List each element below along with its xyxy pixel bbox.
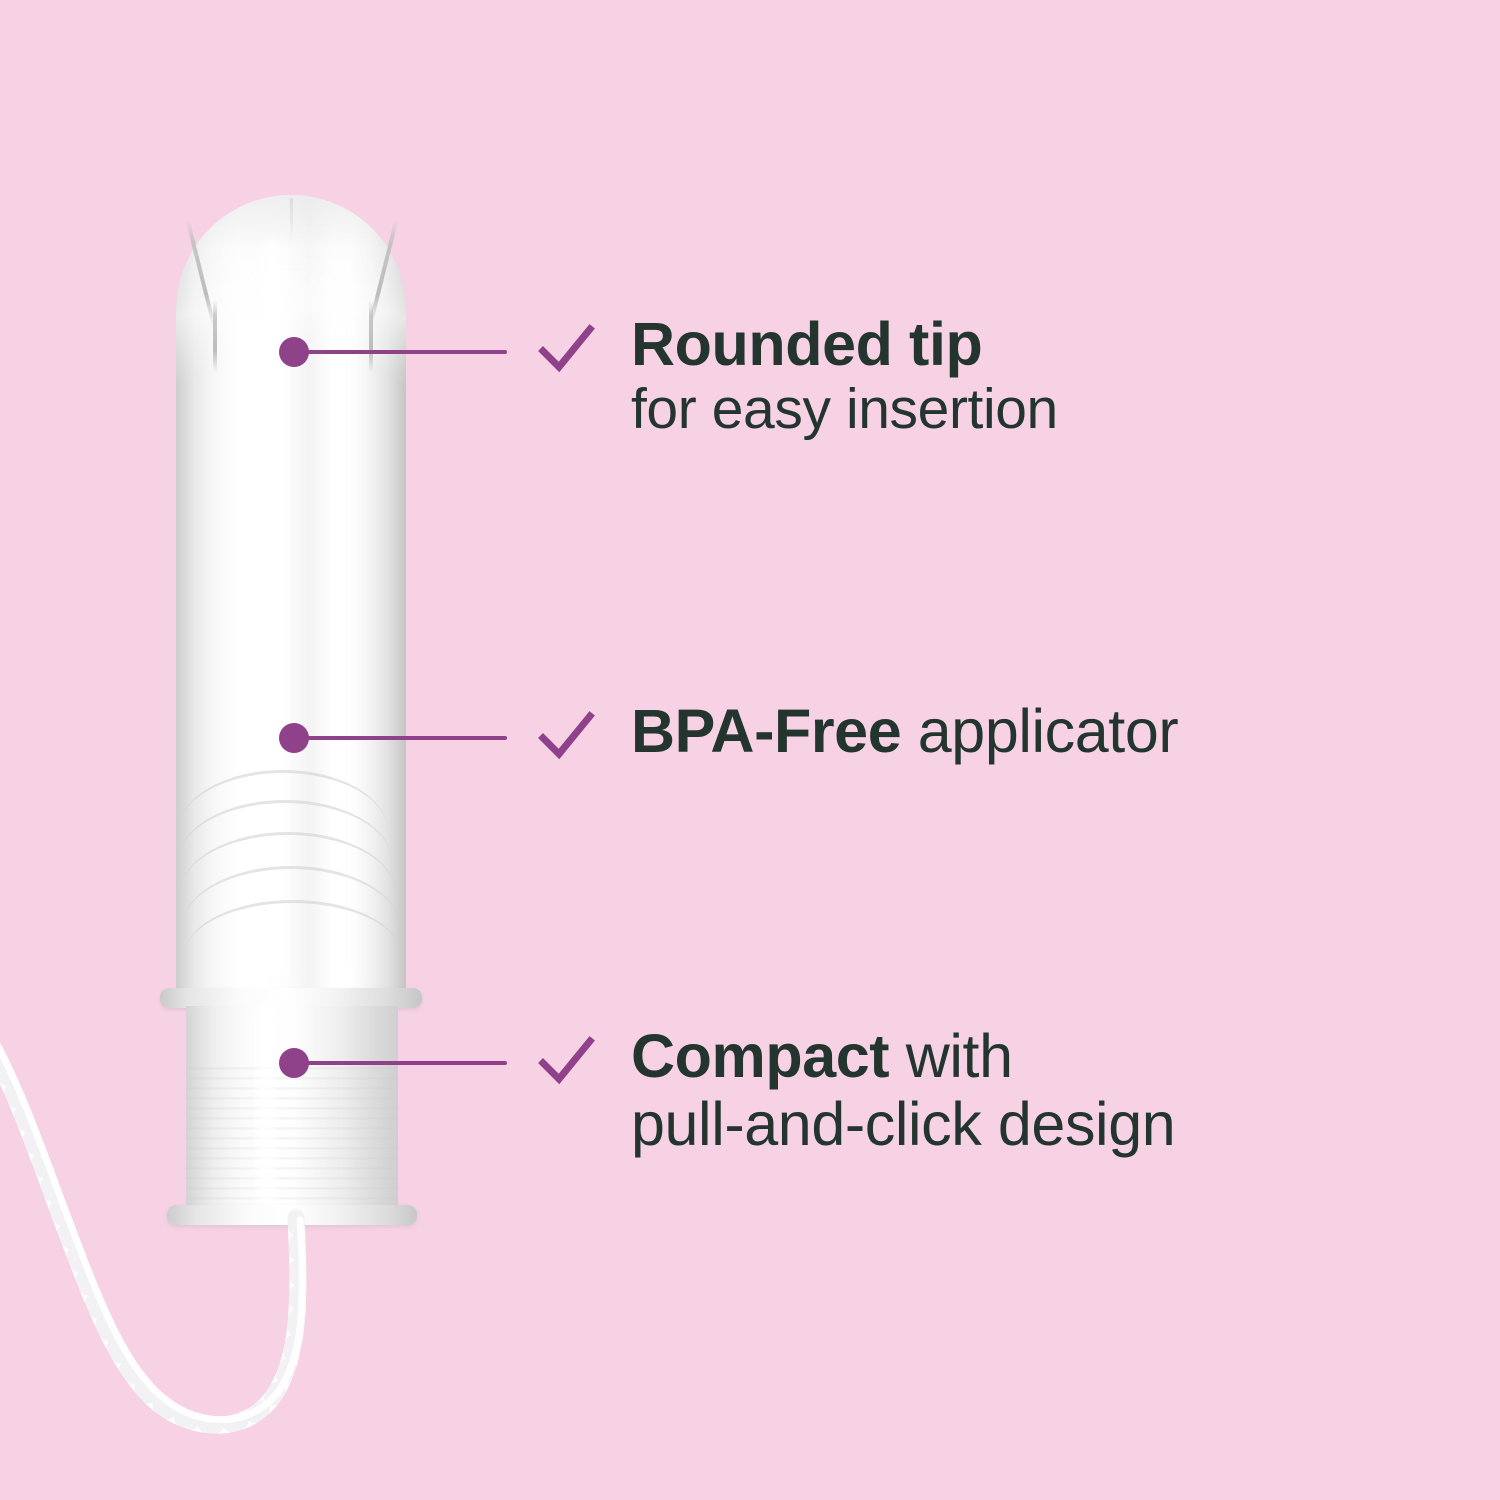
barrel-highlight-secondary (334, 300, 360, 980)
grip-ridge (184, 900, 402, 1013)
callout-leader-rounded-tip (304, 350, 507, 354)
applicator-plunger (186, 1006, 398, 1218)
plunger-highlight (250, 1012, 282, 1214)
feature-strong-text: Compact (631, 1022, 889, 1090)
feature-line-2: pull-and-click design (631, 1090, 1175, 1158)
feature-light-text: applicator (901, 697, 1178, 765)
grip-ridge (182, 866, 400, 989)
feature-line-1: Compact with (631, 1022, 1175, 1090)
grip-ridge (180, 832, 396, 955)
tip-seam-left-icon (185, 219, 215, 327)
feature-light-text: with (889, 1022, 1012, 1090)
applicator-lower-flange (167, 1205, 417, 1225)
applicator-rounded-tip (176, 195, 406, 445)
feature-text-bpa-free: BPA-Free applicator (631, 697, 1178, 765)
grip-ridge (178, 770, 388, 893)
feature-text-rounded-tip: Rounded tip for easy insertion (631, 310, 1058, 442)
callout-leader-compact (304, 1061, 507, 1065)
tip-seam-center-icon (290, 198, 293, 240)
applicator-barrel (176, 195, 406, 1000)
feature-text-compact: Compact with pull-and-click design (631, 1022, 1175, 1159)
check-icon (535, 1030, 597, 1092)
grip-ridge (178, 800, 392, 923)
callout-leader-bpa-free (304, 736, 507, 740)
infographic-canvas: Rounded tip for easy insertion BPA-Free … (0, 0, 1500, 1500)
feature-strong-text: BPA-Free (631, 697, 901, 765)
feature-line-2: for easy insertion (631, 378, 1058, 442)
feature-strong-text: Rounded tip (631, 310, 982, 378)
check-icon (535, 318, 597, 380)
tip-seam-right-lower-icon (369, 300, 373, 372)
tip-seam-left-lower-icon (213, 300, 217, 372)
feature-line-1: Rounded tip (631, 310, 1058, 378)
tip-seam-right-icon (368, 219, 398, 327)
feature-line-1: BPA-Free applicator (631, 697, 1178, 765)
applicator-upper-flange (160, 988, 422, 1008)
plunger-ridges (186, 1060, 398, 1210)
check-icon (535, 705, 597, 767)
